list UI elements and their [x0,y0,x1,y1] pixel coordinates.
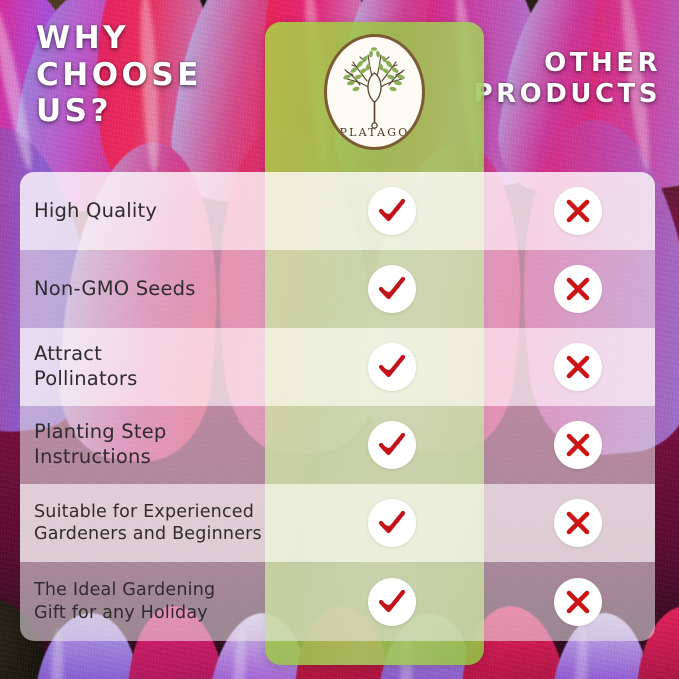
check-mark-badge [368,499,416,547]
check-mark-icon [377,196,407,226]
table-row: The Ideal Gardening Gift for any Holiday [20,562,655,640]
brand-logo-badge: PLATAGO [324,34,425,150]
infographic-canvas: WHY CHOOSE US? OTHER PRODUCTS [0,0,679,679]
table-row: Suitable for Experienced Gardeners and B… [20,484,655,562]
comparison-table: High Quality No [20,172,655,641]
page-title-line-2: CHOOSE [36,57,266,94]
feature-label: Planting Step Instructions [20,420,282,470]
table-row: High Quality [20,172,655,250]
feature-line: Gardeners and Beginners [34,523,282,545]
page-title-line-1: WHY [36,20,266,57]
theirs-cell [501,406,655,484]
theirs-cell [501,562,655,640]
feature-line: High Quality [34,199,282,224]
cross-mark-icon [563,196,593,226]
check-mark-badge [368,421,416,469]
feature-line: Gift for any Holiday [34,602,282,624]
check-mark-badge [368,187,416,235]
table-row: Attract Pollinators [20,328,655,406]
theirs-cell [501,172,655,250]
brand-logo-wordmark: PLATAGO [327,126,422,139]
feature-line: Attract [34,342,282,367]
feature-line: The Ideal Gardening [34,579,282,601]
feature-line: Instructions [34,445,282,470]
cross-mark-badge [554,187,602,235]
table-row: Planting Step Instructions [20,406,655,484]
check-mark-icon [377,352,407,382]
feature-label: Suitable for Experienced Gardeners and B… [20,501,282,546]
check-mark-icon [377,430,407,460]
theirs-cell [501,250,655,328]
ours-cell [282,562,501,640]
cross-mark-badge [554,578,602,626]
cross-mark-icon [563,274,593,304]
ours-cell [282,172,501,250]
feature-line: Planting Step [34,420,282,445]
feature-line: Non-GMO Seeds [34,277,282,302]
feature-line: Suitable for Experienced [34,501,282,523]
cross-mark-icon [563,352,593,382]
theirs-cell [501,328,655,406]
theirs-cell [501,484,655,562]
cross-mark-badge [554,421,602,469]
check-mark-badge [368,265,416,313]
ours-cell [282,250,501,328]
cross-mark-badge [554,343,602,391]
feature-line: Pollinators [34,367,282,392]
page-title-why-choose-us: WHY CHOOSE US? [36,20,266,130]
cross-mark-icon [563,508,593,538]
ours-cell [282,328,501,406]
check-mark-badge [368,578,416,626]
check-mark-icon [377,274,407,304]
ours-cell [282,484,501,562]
cross-mark-badge [554,265,602,313]
page-title-line-3: US? [36,93,266,130]
check-mark-badge [368,343,416,391]
feature-label: Attract Pollinators [20,342,282,392]
feature-label: The Ideal Gardening Gift for any Holiday [20,579,282,624]
table-row: Non-GMO Seeds [20,250,655,328]
feature-label: High Quality [20,199,282,224]
feature-label: Non-GMO Seeds [20,277,282,302]
cross-mark-icon [563,587,593,617]
cross-mark-badge [554,499,602,547]
check-mark-icon [377,508,407,538]
cross-mark-icon [563,430,593,460]
check-mark-icon [377,587,407,617]
ours-cell [282,406,501,484]
